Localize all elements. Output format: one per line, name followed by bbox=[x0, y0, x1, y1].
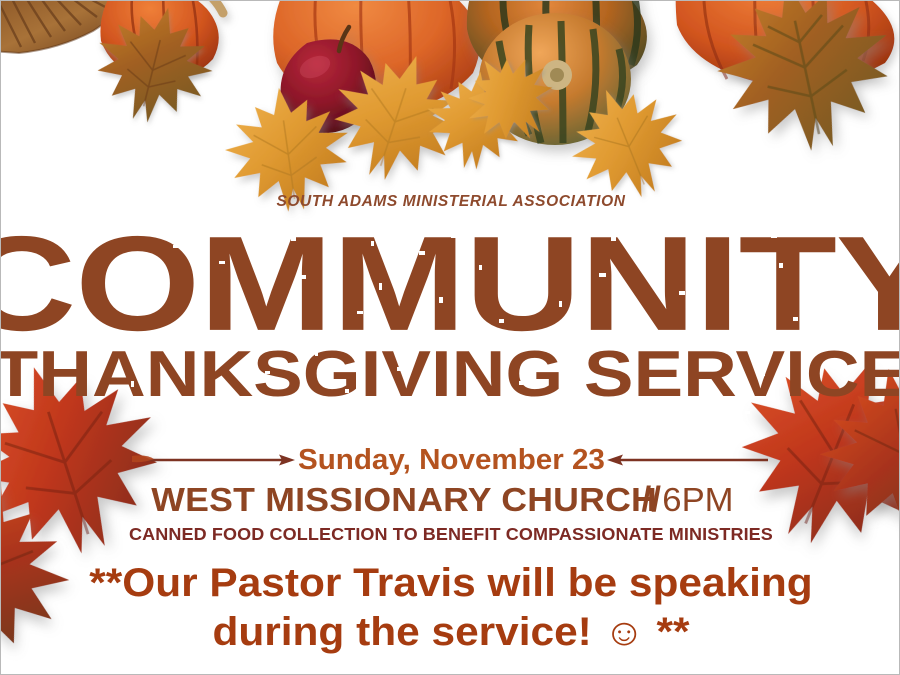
pastor-announcement: **Our Pastor Travis will be speaking dur… bbox=[38, 559, 865, 657]
arrow-left-icon bbox=[605, 448, 770, 472]
title-line-thanksgiving-service: THANKSGIVING SERVICE bbox=[0, 345, 900, 405]
pastor-announcement-line2: during the service! bbox=[212, 610, 591, 654]
event-date: Sunday, November 23 bbox=[293, 444, 608, 477]
benefit-description: CANNED FOOD COLLECTION TO BENEFIT COMPAS… bbox=[0, 524, 900, 545]
title-line-community: COMMUNITY bbox=[0, 222, 900, 346]
smiley-face-icon: ☺ bbox=[604, 612, 645, 654]
venue-name: WEST MISSIONARY CHURCH bbox=[151, 481, 657, 519]
pastor-announcement-trailer: ** bbox=[657, 610, 690, 654]
arrow-right-icon bbox=[132, 448, 297, 472]
venue-and-time-row: WEST MISSIONARY CHURCH//6PM bbox=[1, 480, 900, 520]
pastor-announcement-line1: **Our Pastor Travis will be speaking bbox=[89, 561, 812, 605]
event-date-row: Sunday, November 23 bbox=[1, 444, 900, 476]
page-title: COMMUNITY THANKSGIVING SERVICE bbox=[1, 223, 900, 403]
event-time: 6PM bbox=[662, 481, 733, 519]
thanksgiving-service-flyer: SOUTH ADAMS MINISTERIAL ASSOCIATION COMM… bbox=[0, 0, 900, 675]
